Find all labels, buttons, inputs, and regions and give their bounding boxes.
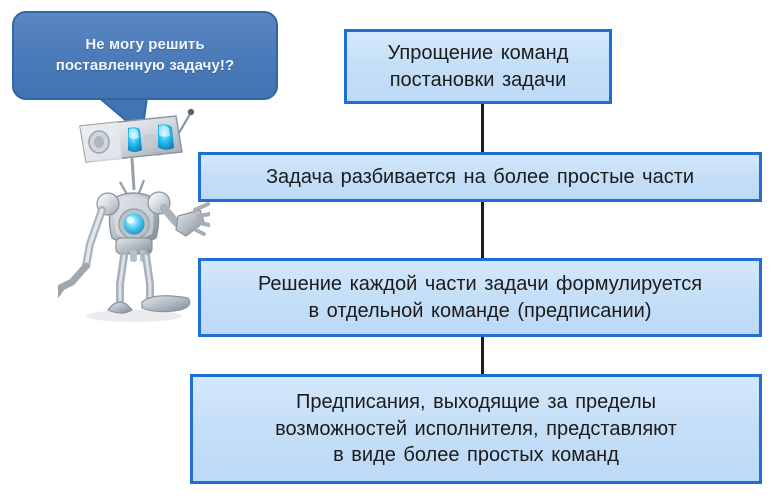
flow-box-4-text: Предписания, выходящие за пределы возмож…	[267, 389, 685, 469]
connector-box3-box4	[481, 335, 484, 376]
robot-arm-left	[58, 193, 119, 298]
speech-bubble: Не могу решить поставленную задачу!?	[12, 11, 278, 100]
robot-hand-right	[176, 204, 210, 236]
robot-foot-left	[108, 302, 132, 313]
robot-foot-right	[142, 296, 190, 312]
svg-text:RB: RB	[154, 152, 162, 158]
connector-box2-box3	[481, 200, 484, 260]
robot-character: RB	[58, 104, 210, 322]
flow-box-1-text: Упрощение команд постановки задачи	[380, 40, 577, 94]
robot-hand-left	[58, 288, 62, 298]
flow-box-2: Задача разбивается на более простые част…	[198, 152, 762, 202]
speech-bubble-text: Не могу решить поставленную задачу!?	[56, 35, 235, 76]
flow-box-2-text: Задача разбивается на более простые част…	[258, 164, 702, 191]
flow-box-3-text: Решение каждой части задачи формулируетс…	[250, 271, 710, 325]
flow-box-1: Упрощение команд постановки задачи	[344, 29, 612, 104]
robot-legs	[108, 238, 190, 313]
robot-core	[124, 214, 145, 235]
connector-box1-box2	[481, 103, 484, 154]
slide-canvas: Не могу решить поставленную задачу!?	[0, 0, 778, 502]
robot-head: RB	[80, 116, 182, 162]
robot-neck	[132, 158, 134, 190]
flow-box-3: Решение каждой части задачи формулируетс…	[198, 258, 762, 337]
flow-box-4: Предписания, выходящие за пределы возмож…	[190, 374, 762, 484]
